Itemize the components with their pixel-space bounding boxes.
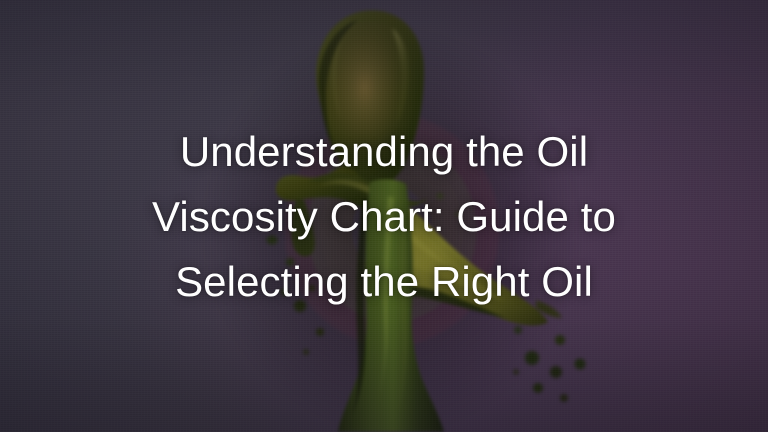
hero-banner: Understanding the Oil Viscosity Chart: G… — [0, 0, 768, 432]
page-title: Understanding the Oil Viscosity Chart: G… — [0, 119, 768, 314]
